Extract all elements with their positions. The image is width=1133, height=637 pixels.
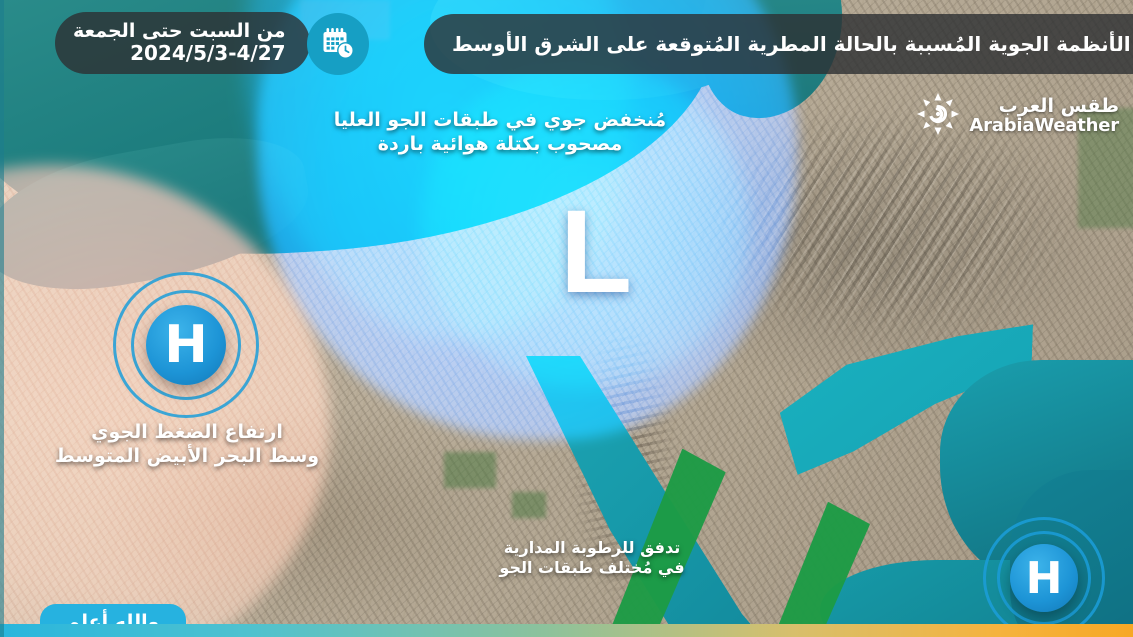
low-pressure-marker-L: L <box>560 193 632 311</box>
moisture-annotation-line1: تدفق للرطوبة المدارية <box>448 538 736 558</box>
date-range-text: من السبت حتى الجمعة 2024/5/3-4/27 <box>73 21 286 65</box>
calendar-clock-icon <box>307 13 369 75</box>
brand-names: طقس العرب ArabiaWeather <box>969 97 1119 135</box>
high-pressure-marker-arabia: H <box>983 517 1105 637</box>
high-pressure-annotation-line1: ارتفاع الضغط الجوي <box>18 420 356 444</box>
low-system-annotation: مُنخفض جوي في طبقات الجو العليا مصحوب بك… <box>318 108 682 157</box>
high-pressure-annotation-line2: وسط البحر الأبيض المتوسط <box>18 444 356 468</box>
moisture-annotation: تدفق للرطوبة المدارية في مُختلف طبقات ال… <box>448 538 736 579</box>
sun-spiral-icon <box>916 92 960 140</box>
bottom-gradient-strip <box>0 624 1133 637</box>
brand-name-ar: طقس العرب <box>969 97 1119 116</box>
marker-disc-label: H <box>1010 544 1078 612</box>
high-pressure-marker-mediterranean: H <box>113 272 259 418</box>
low-system-annotation-line1: مُنخفض جوي في طبقات الجو العليا <box>318 108 682 132</box>
low-system-annotation-line2: مصحوب بكتلة هوائية باردة <box>318 132 682 156</box>
title-bar: الأنظمة الجوية المُسببة بالحالة المطرية … <box>424 14 1133 74</box>
date-range-label: من السبت حتى الجمعة <box>73 21 286 42</box>
left-frame-edge <box>0 0 4 637</box>
vegetation-patch <box>512 492 546 518</box>
marker-disc-label: H <box>146 305 226 385</box>
weather-map-screenshot: مُنخفض جوي في طبقات الجو العليا مصحوب بك… <box>0 0 1133 637</box>
date-range-value: 2024/5/3-4/27 <box>73 42 286 64</box>
page-title: الأنظمة الجوية المُسببة بالحالة المطرية … <box>452 32 1131 56</box>
vegetation-patch <box>444 452 496 488</box>
brand-name-en: ArabiaWeather <box>969 117 1119 135</box>
moisture-annotation-line2: في مُختلف طبقات الجو <box>448 558 736 578</box>
date-range-badge: من السبت حتى الجمعة 2024/5/3-4/27 <box>55 12 310 74</box>
high-pressure-annotation: ارتفاع الضغط الجوي وسط البحر الأبيض المت… <box>18 420 356 469</box>
brand-logo: طقس العرب ArabiaWeather <box>916 92 1119 140</box>
